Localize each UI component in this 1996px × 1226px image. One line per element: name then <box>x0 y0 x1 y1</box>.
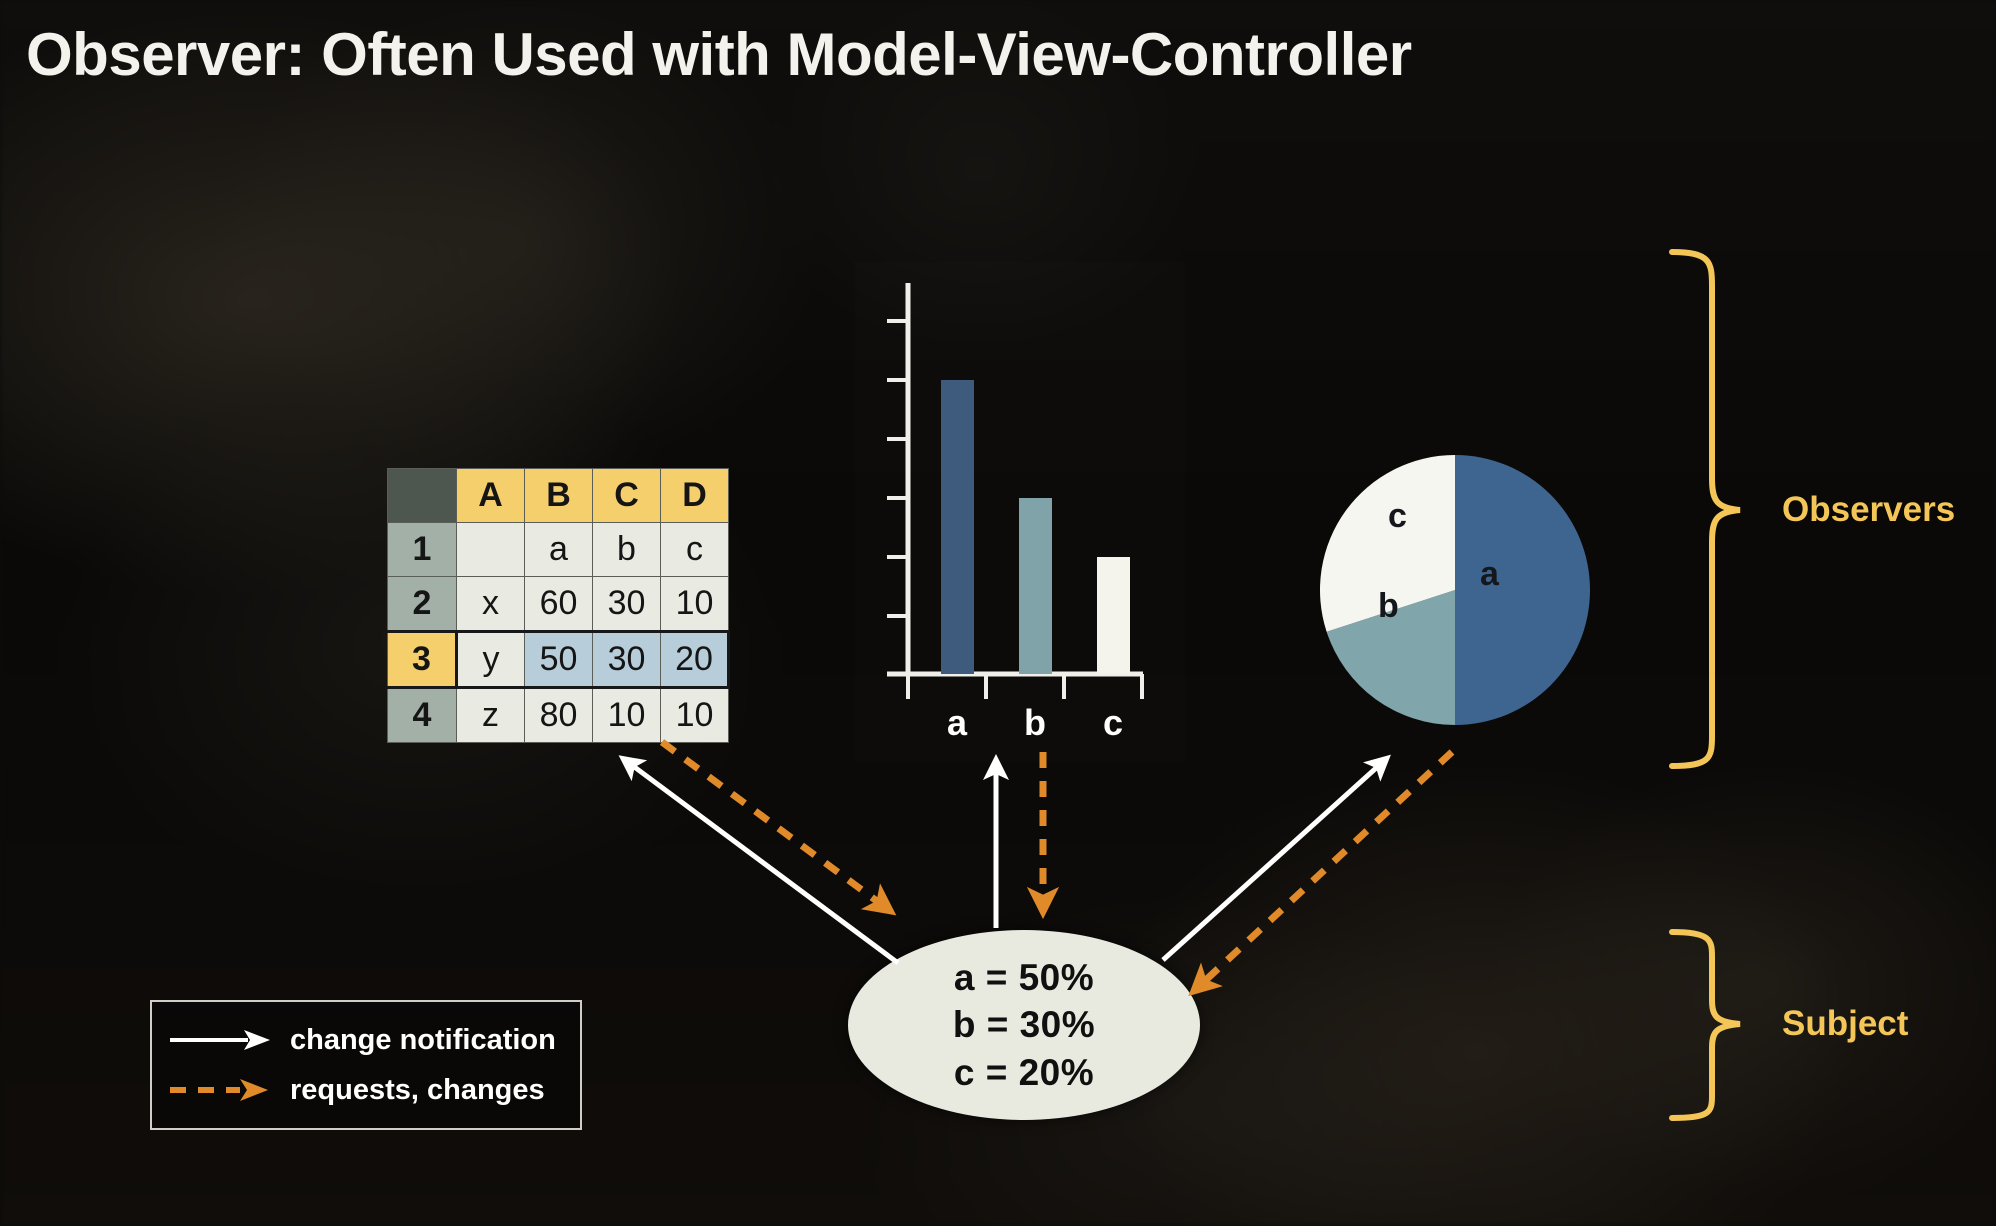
arrow-right-icon <box>168 1025 280 1055</box>
spreadsheet-table[interactable]: A B C D 1 a b c 2 x 60 30 10 3 y <box>387 468 730 743</box>
subject-model[interactable]: a = 50% b = 30% c = 20% <box>848 930 1200 1120</box>
cell-b1[interactable]: a <box>525 523 593 577</box>
column-header-b[interactable]: B <box>525 469 593 523</box>
cell-d2[interactable]: 10 <box>661 577 729 632</box>
table-row-selected[interactable]: 3 y 50 30 20 <box>388 632 729 688</box>
pie-label-c: c <box>1388 497 1407 536</box>
row-header-4[interactable]: 4 <box>388 688 457 743</box>
bar-c <box>1097 557 1130 674</box>
subject-group-label: Subject <box>1782 1004 1908 1044</box>
cell-d3[interactable]: 20 <box>661 632 729 688</box>
cell-b3[interactable]: 50 <box>525 632 593 688</box>
table-header-row: A B C D <box>388 469 729 523</box>
cell-c4[interactable]: 10 <box>593 688 661 743</box>
row-header-2[interactable]: 2 <box>388 577 457 632</box>
cell-a1[interactable] <box>457 523 525 577</box>
page-title: Observer: Often Used with Model-View-Con… <box>26 20 1412 89</box>
cell-c2[interactable]: 30 <box>593 577 661 632</box>
legend: change notification requests, changes <box>150 1000 582 1130</box>
bar-b <box>1019 498 1052 674</box>
legend-solid-arrow-swatch <box>168 1025 280 1055</box>
row-header-1[interactable]: 1 <box>388 523 457 577</box>
pie-label-a: a <box>1480 555 1499 594</box>
subject-line-a: a = 50% <box>954 954 1094 1001</box>
bar-x-label-a: a <box>927 702 987 744</box>
row-header-3[interactable]: 3 <box>388 632 457 688</box>
column-header-c[interactable]: C <box>593 469 661 523</box>
cell-c3[interactable]: 30 <box>593 632 661 688</box>
cell-a4[interactable]: z <box>457 688 525 743</box>
bar-x-label-c: c <box>1083 702 1143 744</box>
column-header-a[interactable]: A <box>457 469 525 523</box>
cell-a3[interactable]: y <box>457 632 525 688</box>
legend-item-requests-changes: requests, changes <box>152 1068 580 1112</box>
legend-dashed-arrow-swatch <box>168 1075 280 1105</box>
table-row[interactable]: 4 z 80 10 10 <box>388 688 729 743</box>
bar-chart-view[interactable]: a b c <box>855 262 1185 762</box>
table-row[interactable]: 1 a b c <box>388 523 729 577</box>
observers-group-label: Observers <box>1782 490 1955 530</box>
arrow-right-icon <box>168 1075 280 1105</box>
subject-line-c: c = 20% <box>954 1049 1094 1096</box>
legend-item-change-notification: change notification <box>152 1018 580 1062</box>
cell-a2[interactable]: x <box>457 577 525 632</box>
cell-d4[interactable]: 10 <box>661 688 729 743</box>
pie-chart-svg <box>1320 455 1590 725</box>
legend-label-requests-changes: requests, changes <box>290 1074 545 1107</box>
pie-slice-a <box>1455 455 1590 725</box>
column-header-d[interactable]: D <box>661 469 729 523</box>
bar-chart-svg <box>855 262 1185 762</box>
subject-line-b: b = 30% <box>953 1001 1095 1048</box>
table-corner-cell <box>388 469 457 523</box>
pie-label-b: b <box>1378 587 1399 626</box>
cell-b2[interactable]: 60 <box>525 577 593 632</box>
pie-chart-view[interactable]: a b c <box>1320 455 1590 725</box>
slide-canvas: Observer: Often Used with Model-View-Con… <box>0 0 1996 1226</box>
legend-label-change-notification: change notification <box>290 1024 556 1057</box>
table-row[interactable]: 2 x 60 30 10 <box>388 577 729 632</box>
bar-x-label-b: b <box>1005 702 1065 744</box>
cell-c1[interactable]: b <box>593 523 661 577</box>
bar-a <box>941 380 974 674</box>
cell-d1[interactable]: c <box>661 523 729 577</box>
cell-b4[interactable]: 80 <box>525 688 593 743</box>
spreadsheet-view[interactable]: A B C D 1 a b c 2 x 60 30 10 3 y <box>387 468 730 743</box>
